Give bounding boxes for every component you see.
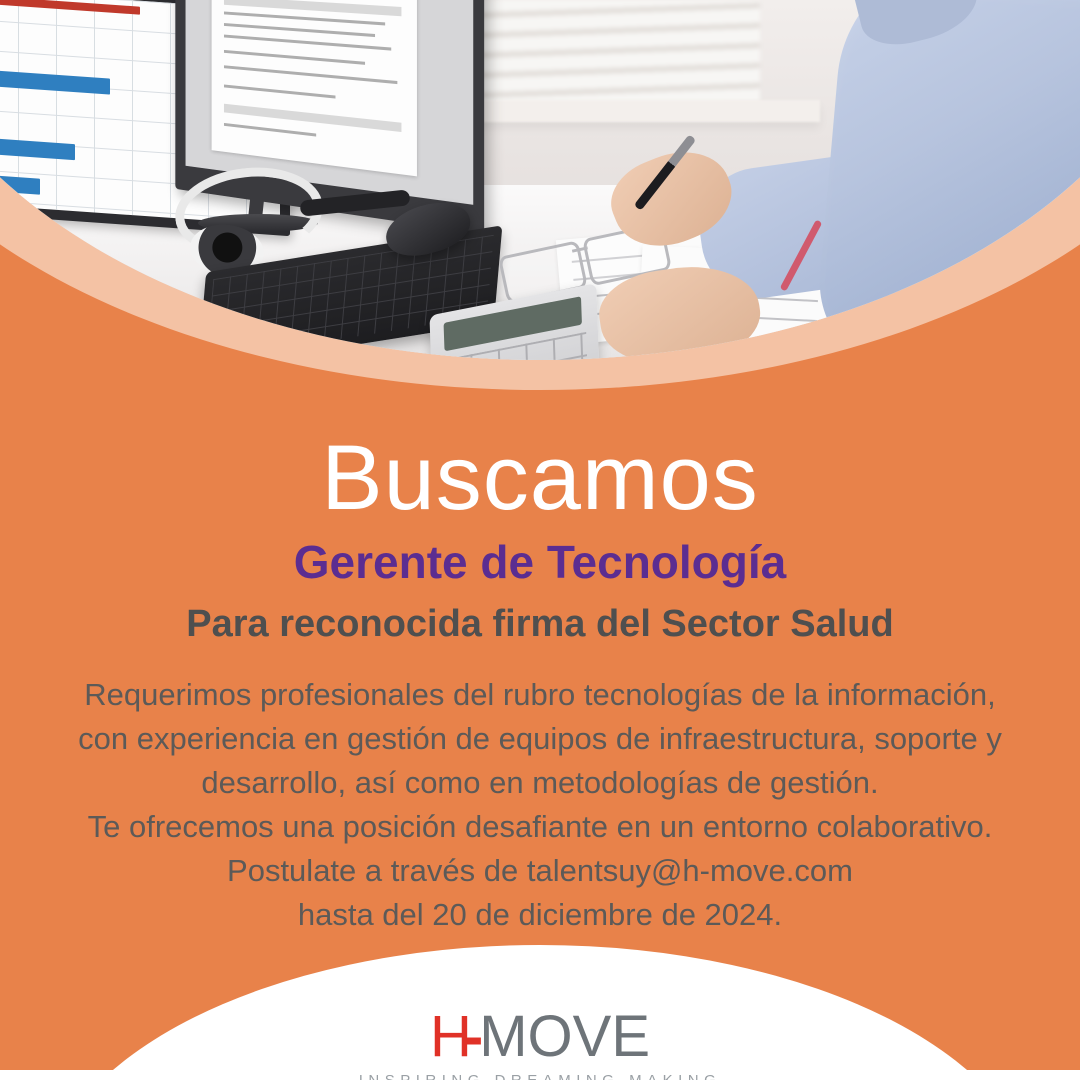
description-line: Te ofrecemos una posición desafiante en … — [45, 805, 1035, 849]
logo-word-move: MOVE — [479, 1004, 650, 1069]
doc-line — [224, 85, 336, 99]
job-posting-poster: Buscamos Gerente de Tecnología Para reco… — [0, 0, 1080, 1080]
office-desk-photo — [0, 0, 1080, 360]
doc-line — [224, 50, 365, 65]
logo-tagline: INSPIRING DREAMING MAKING — [0, 1072, 1080, 1080]
headline-sector: Para reconocida firma del Sector Salud — [0, 603, 1080, 647]
logo-wordmark: H-MOVE — [0, 1008, 1080, 1066]
photo-scene — [0, 0, 1080, 360]
person-shirt — [812, 0, 1080, 360]
company-logo: H-MOVE INSPIRING DREAMING MAKING — [0, 1008, 1080, 1080]
chart-bar-3 — [0, 175, 40, 195]
contact-line: Postulate a través de talentsuy@h-move.c… — [45, 849, 1035, 893]
poster-content: Buscamos Gerente de Tecnología Para reco… — [0, 410, 1080, 937]
headline-main: Buscamos — [0, 432, 1080, 524]
doc-line — [224, 123, 316, 137]
doc-line — [224, 35, 391, 51]
description-line: desarrollo, así como en metodologías de … — [45, 761, 1035, 805]
header-photo-clip — [0, 0, 1080, 360]
description-line: con experiencia en gestión de equipos de… — [45, 717, 1035, 761]
deadline-line: hasta del 20 de diciembre de 2024. — [45, 893, 1035, 937]
invoice-document — [212, 0, 417, 176]
headline-role: Gerente de Tecnología — [0, 536, 1080, 589]
doc-line — [224, 65, 397, 84]
description-line: Requerimos profesionales del rubro tecno… — [45, 673, 1035, 717]
description-block: Requerimos profesionales del rubro tecno… — [45, 673, 1035, 937]
doc-line — [224, 23, 375, 37]
